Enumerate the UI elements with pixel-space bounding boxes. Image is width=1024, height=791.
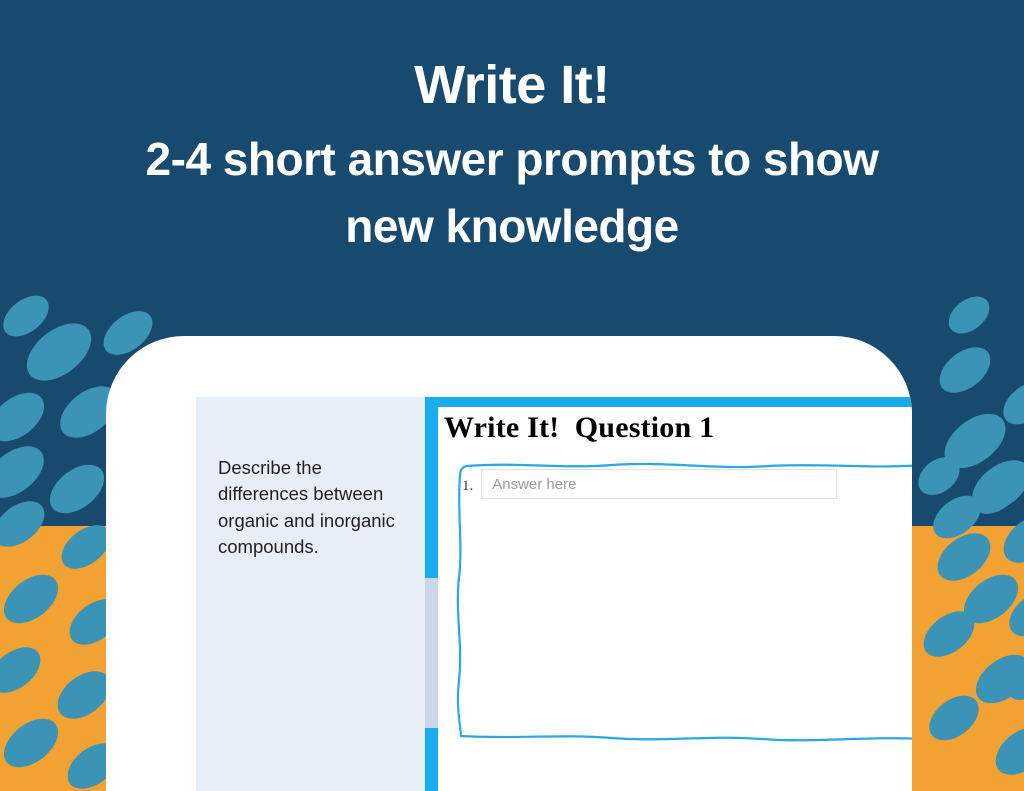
- device-card: Describe the differences between organic…: [106, 336, 912, 791]
- slide-header: Write It! 2-4 short answer prompts to sh…: [0, 58, 1024, 259]
- document-spine: [425, 397, 438, 791]
- slide-canvas: Write It! 2-4 short answer prompts to sh…: [0, 0, 1024, 791]
- document-spine-segment-top: [425, 397, 438, 578]
- answer-input[interactable]: [481, 469, 837, 499]
- question-heading: Write It! Question 1: [444, 411, 714, 445]
- page-accent-bar: [438, 397, 912, 407]
- document-viewport: Describe the differences between organic…: [196, 397, 912, 791]
- prompt-pane: Describe the differences between organic…: [196, 397, 425, 791]
- page-subtitle: 2-4 short answer prompts to show new kno…: [0, 126, 1024, 259]
- answer-row: 1.: [460, 469, 837, 503]
- prompt-text: Describe the differences between organic…: [218, 455, 414, 560]
- document-spine-segment-bottom: [425, 728, 438, 791]
- answer-number: 1.: [460, 469, 481, 503]
- question-page: Write It! Question 1 1.: [438, 397, 912, 791]
- page-title: Write It!: [0, 58, 1024, 112]
